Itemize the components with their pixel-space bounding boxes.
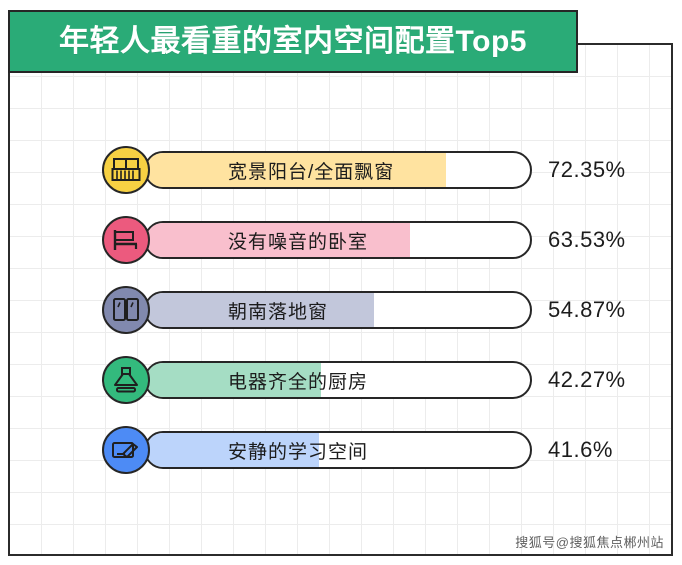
chart-row-5: 安静的学习空间 41.6% [102,426,613,474]
page-title: 年轻人最看重的室内空间配置Top5 [59,27,527,57]
title-banner: 年轻人最看重的室内空间配置Top5 [8,10,578,73]
window-panes-icon [102,286,150,334]
bar-track-wrapper-3: 朝南落地窗 [144,291,532,329]
bar-track-3 [144,291,532,329]
watermark: 搜狐号@搜狐焦点郴州站 [515,532,664,551]
bar-track-wrapper-2: 没有噪音的卧室 [144,221,532,259]
bar-chart: 宽景阳台/全面飘窗 72.35% 没有噪音的卧室 63.53% [0,0,682,565]
bar-value-2: 63.53% [548,227,626,253]
chart-row-1: 宽景阳台/全面飘窗 72.35% [102,146,626,194]
tablet-pen-icon [102,426,150,474]
chart-row-4: 电器齐全的厨房 42.27% [102,356,626,404]
bar-label-1: 宽景阳台/全面飘窗 [228,151,394,189]
bar-label-3: 朝南落地窗 [228,291,328,329]
bar-track-wrapper-4: 电器齐全的厨房 [144,361,532,399]
chart-row-2: 没有噪音的卧室 63.53% [102,216,626,264]
bed-icon [102,216,150,264]
balcony-railing-icon [102,146,150,194]
bar-value-4: 42.27% [548,367,626,393]
bar-label-2: 没有噪音的卧室 [228,221,368,259]
bar-value-1: 72.35% [548,157,626,183]
bar-track-wrapper-5: 安静的学习空间 [144,431,532,469]
bar-track-wrapper-1: 宽景阳台/全面飘窗 [144,151,532,189]
bar-label-5: 安静的学习空间 [228,431,368,469]
range-hood-icon [102,356,150,404]
bar-label-4: 电器齐全的厨房 [228,361,368,399]
bar-value-5: 41.6% [548,437,613,463]
infographic-canvas: 年轻人最看重的室内空间配置Top5 [0,0,682,565]
bar-value-3: 54.87% [548,297,626,323]
chart-row-3: 朝南落地窗 54.87% [102,286,626,334]
